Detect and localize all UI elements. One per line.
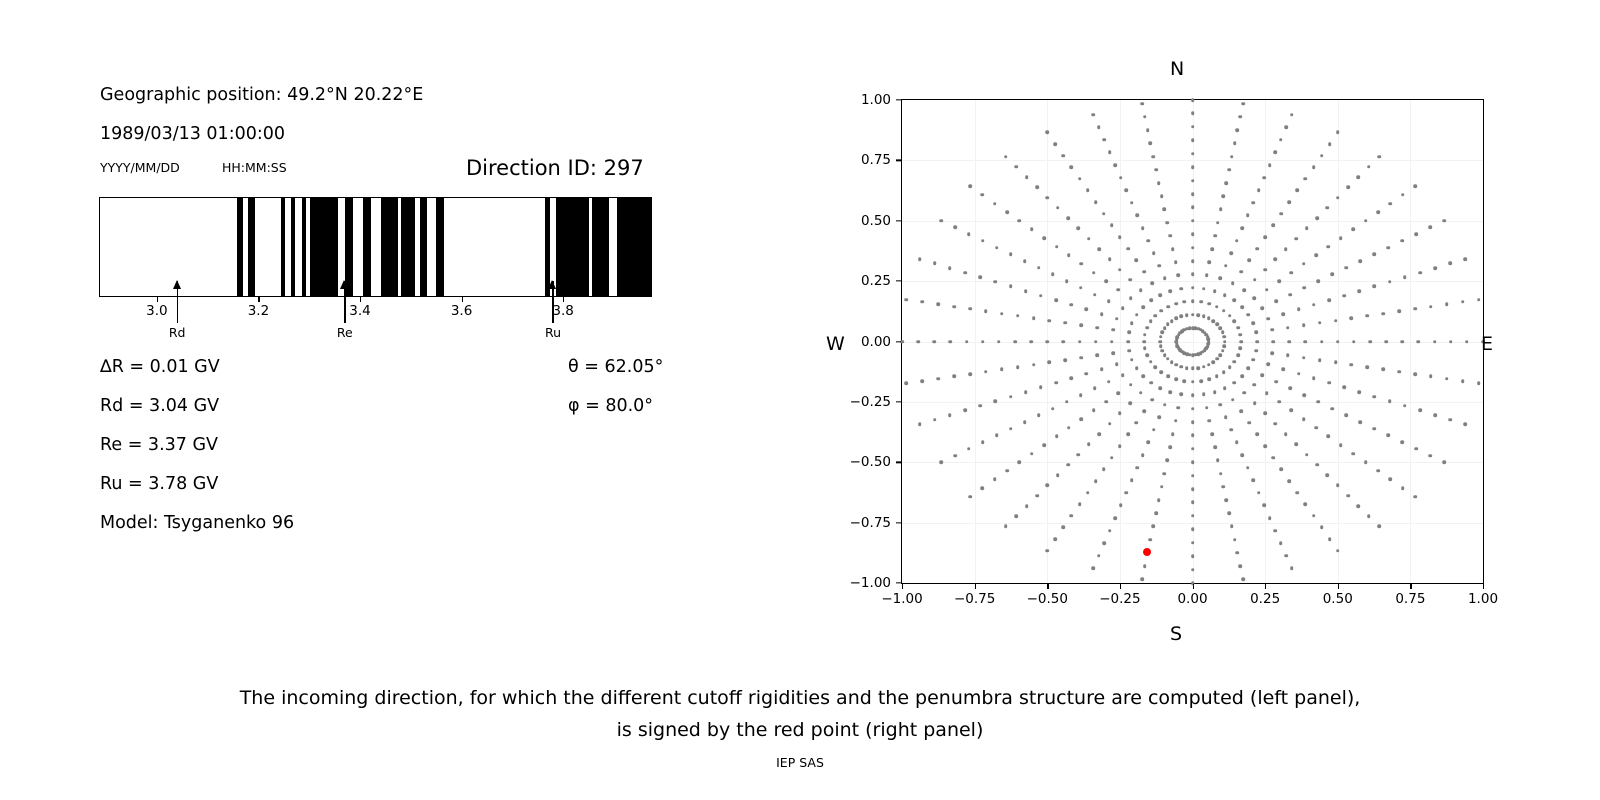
x-axis-tick xyxy=(1410,584,1411,589)
direction-dot xyxy=(1294,442,1298,446)
x-axis-tick-label: −0.25 xyxy=(1099,591,1140,607)
direction-dot xyxy=(1100,367,1104,371)
direction-dot xyxy=(1302,323,1306,327)
direction-dot xyxy=(1318,358,1322,362)
direction-dot xyxy=(1196,313,1200,317)
direction-dot xyxy=(1357,175,1361,179)
direction-dot xyxy=(1351,452,1355,456)
direction-dot xyxy=(1170,360,1174,364)
direction-dot xyxy=(1222,371,1226,375)
direction-dot xyxy=(1263,268,1267,272)
direction-dot xyxy=(1147,239,1151,243)
direction-dot xyxy=(1240,226,1244,230)
direction-dot xyxy=(1100,312,1104,316)
direction-dot xyxy=(1118,268,1122,272)
direction-dot xyxy=(1009,395,1013,399)
direction-dot xyxy=(1025,175,1029,179)
direction-dot xyxy=(1180,314,1184,318)
direction-dot xyxy=(1136,214,1140,218)
direction-dot xyxy=(936,377,940,381)
direction-dot xyxy=(1223,340,1227,344)
direction-dot xyxy=(1128,278,1132,282)
direction-dot xyxy=(1238,347,1242,351)
direction-dot xyxy=(1094,200,1098,204)
direction-dot xyxy=(1289,387,1293,391)
direction-dot xyxy=(967,447,971,451)
direction-dot xyxy=(1339,236,1343,240)
direction-dot xyxy=(1227,168,1231,172)
direction-dot xyxy=(1004,155,1008,159)
direction-dot xyxy=(1224,415,1228,419)
direction-dot xyxy=(1191,528,1195,532)
direction-dot xyxy=(1328,142,1332,146)
direction-dot xyxy=(1207,316,1211,320)
direction-dot xyxy=(1191,125,1195,129)
direction-dot xyxy=(1358,289,1362,293)
direction-dot xyxy=(1302,262,1306,266)
direction-dot xyxy=(1414,447,1418,451)
direction-dot xyxy=(1127,349,1131,353)
direction-dot xyxy=(1166,357,1170,361)
direction-dot xyxy=(1108,257,1112,261)
direction-dot xyxy=(1235,239,1239,243)
direction-dot xyxy=(1326,206,1330,210)
direction-dot xyxy=(1230,525,1234,529)
direction-dot xyxy=(1158,340,1162,344)
direction-dot xyxy=(1070,165,1074,169)
compass-north-label: N xyxy=(1170,58,1184,80)
direction-dot xyxy=(1246,466,1250,470)
direction-dot xyxy=(1030,228,1034,232)
direction-dot xyxy=(1115,363,1119,367)
direction-dot xyxy=(1339,443,1343,447)
direction-dot xyxy=(1372,427,1376,431)
direction-dot xyxy=(1296,491,1300,495)
direction-dot xyxy=(1141,453,1145,457)
direction-dot xyxy=(1224,181,1228,185)
direction-dot xyxy=(1032,363,1036,367)
x-axis-tick-label: 0.50 xyxy=(1323,591,1353,607)
direction-dot xyxy=(1251,358,1255,362)
direction-dot xyxy=(1294,237,1298,241)
direction-dot xyxy=(1263,412,1267,416)
direction-dot xyxy=(1414,232,1418,236)
direction-dot xyxy=(1140,578,1144,582)
direction-dot xyxy=(1092,409,1096,413)
direction-dot xyxy=(1367,165,1371,169)
x-axis-tick xyxy=(902,584,903,589)
direction-dot xyxy=(1366,314,1370,318)
y-axis-tick xyxy=(896,522,901,523)
direction-dot xyxy=(995,434,999,438)
direction-dot xyxy=(1102,138,1106,142)
direction-dot xyxy=(1238,115,1242,119)
x-axis-tick-label: −0.75 xyxy=(954,591,995,607)
direction-dot xyxy=(968,495,972,499)
direction-dot xyxy=(1191,112,1195,116)
direction-dot xyxy=(921,300,925,304)
direction-dot xyxy=(1078,340,1082,344)
direction-dot xyxy=(1265,391,1269,395)
direction-dot xyxy=(1130,358,1134,362)
y-axis-tick-label: −0.50 xyxy=(833,454,891,470)
direction-dot xyxy=(1330,407,1334,411)
direction-dot xyxy=(1296,189,1300,193)
direction-dot xyxy=(1465,340,1469,344)
direction-dot xyxy=(1304,502,1308,506)
direction-dot xyxy=(1267,317,1271,321)
direction-dot xyxy=(1372,253,1376,257)
direction-dot xyxy=(1048,319,1052,323)
direction-dot xyxy=(981,239,985,243)
direction-dot xyxy=(1284,432,1288,436)
direction-dot xyxy=(1055,245,1059,249)
direction-dot xyxy=(1207,363,1211,367)
direction-dot xyxy=(1146,128,1150,132)
direction-dot xyxy=(1107,299,1111,303)
figure-caption: The incoming direction, for which the di… xyxy=(0,682,1600,746)
direction-dot xyxy=(1262,504,1266,508)
direction-dot xyxy=(1004,525,1008,529)
direction-dot xyxy=(1191,152,1195,156)
direction-dot xyxy=(1163,326,1167,330)
direction-dot xyxy=(1121,306,1125,310)
direction-dot xyxy=(953,454,957,458)
direction-dot xyxy=(939,460,943,464)
direction-dot xyxy=(1433,340,1437,344)
direction-dot xyxy=(1175,316,1179,320)
direction-dot xyxy=(1191,165,1195,169)
direction-dot xyxy=(949,340,953,344)
direction-dot xyxy=(1104,400,1108,404)
direction-dot xyxy=(1289,293,1293,297)
direction-dot xyxy=(1216,221,1220,225)
x-axis-tick-label: −0.50 xyxy=(1027,591,1068,607)
direction-dot xyxy=(1045,196,1049,200)
direction-dot xyxy=(1213,289,1217,293)
direction-dot xyxy=(1219,472,1223,476)
direction-dot xyxy=(1191,367,1195,371)
y-axis-tick xyxy=(896,582,901,583)
direction-dot xyxy=(1185,366,1189,370)
direction-dot xyxy=(1035,494,1039,498)
y-axis-tick-label: −0.75 xyxy=(833,515,891,531)
direction-dot xyxy=(1224,498,1228,502)
direction-dot xyxy=(1273,529,1277,533)
direction-dot xyxy=(1054,381,1058,385)
direction-dot xyxy=(1344,413,1348,417)
direction-dot xyxy=(1124,491,1128,495)
direction-dot xyxy=(1464,422,1468,426)
direction-dot xyxy=(1121,373,1125,377)
direction-dot xyxy=(1232,381,1236,385)
direction-dot xyxy=(1130,321,1134,325)
direction-dot xyxy=(1166,322,1170,326)
direction-dot xyxy=(1168,234,1172,238)
direction-dot xyxy=(1149,538,1153,542)
direction-dot xyxy=(1067,253,1071,257)
direction-dot xyxy=(1023,420,1027,424)
direction-dot xyxy=(1240,374,1244,378)
direction-dot xyxy=(1358,259,1362,263)
direction-dot xyxy=(1130,201,1134,205)
direction-dot xyxy=(1312,376,1316,380)
direction-dot xyxy=(1448,418,1452,422)
direction-dot xyxy=(1302,356,1306,360)
footer-credit: IEP SAS xyxy=(0,755,1600,770)
direction-dot xyxy=(1243,288,1247,292)
direction-dot xyxy=(968,307,972,311)
direction-dot xyxy=(1477,382,1481,386)
direction-dot xyxy=(967,232,971,236)
direction-dot xyxy=(1403,275,1407,279)
direction-dot xyxy=(1023,259,1027,263)
y-axis-tick xyxy=(896,160,901,161)
direction-dot xyxy=(1171,432,1175,436)
direction-dot xyxy=(1110,224,1114,228)
direction-dot xyxy=(1177,274,1181,278)
direction-dot xyxy=(1229,251,1233,255)
direction-dot xyxy=(1108,151,1112,155)
direction-dot xyxy=(1326,473,1330,477)
direction-dot xyxy=(1274,422,1278,426)
direction-dot xyxy=(1095,354,1099,358)
direction-dot xyxy=(1376,210,1380,214)
direction-dot xyxy=(1191,232,1195,236)
direction-dot xyxy=(1320,340,1324,344)
x-axis-tick xyxy=(1338,584,1339,589)
direction-dot xyxy=(1104,279,1108,283)
direction-dot xyxy=(1079,262,1083,266)
direction-dot xyxy=(1342,294,1346,298)
direction-dot xyxy=(1318,321,1322,325)
direction-dot xyxy=(1263,444,1267,448)
direction-dot xyxy=(1157,498,1161,502)
direction-dot xyxy=(1327,245,1331,249)
direction-dot xyxy=(1113,163,1117,167)
direction-dot xyxy=(1079,417,1083,421)
direction-dot xyxy=(1191,219,1195,223)
direction-dot xyxy=(1213,390,1217,394)
direction-dot xyxy=(1304,177,1308,181)
direction-dot xyxy=(1297,308,1301,312)
direction-dot xyxy=(1056,206,1060,210)
direction-dot xyxy=(1159,335,1163,339)
direction-dot xyxy=(1350,316,1354,320)
selected-direction-point[interactable] xyxy=(1143,548,1151,556)
direction-dot xyxy=(1032,316,1036,320)
direction-dot xyxy=(1157,181,1161,185)
direction-dot xyxy=(1191,514,1195,518)
direction-dot xyxy=(1152,251,1156,255)
direction-dot xyxy=(1062,340,1066,344)
direction-dot xyxy=(1253,383,1257,387)
direction-dot xyxy=(1213,234,1217,238)
direction-dot xyxy=(1042,236,1046,240)
direction-dot xyxy=(1384,340,1388,344)
direction-dot xyxy=(1271,456,1275,460)
direction-dot xyxy=(1218,277,1222,281)
direction-dot xyxy=(1102,212,1106,216)
direction-dot xyxy=(1018,460,1022,464)
direction-dot xyxy=(1236,551,1240,555)
direction-dot xyxy=(1143,333,1147,337)
direction-dot xyxy=(1171,247,1175,251)
direction-dot xyxy=(1270,328,1274,332)
direction-dot xyxy=(1140,102,1144,106)
direction-dot xyxy=(1222,485,1226,489)
direction-dot xyxy=(1303,393,1307,397)
direction-dot xyxy=(1228,314,1232,318)
direction-dot xyxy=(1069,376,1073,380)
direction-dot xyxy=(1154,511,1158,515)
direction-dot xyxy=(1185,313,1189,317)
direction-dot xyxy=(1236,128,1240,132)
direction-dot xyxy=(1000,312,1004,316)
direction-dot xyxy=(1211,360,1215,364)
direction-dot xyxy=(993,478,997,482)
direction-dot xyxy=(1199,379,1203,383)
direction-dot xyxy=(1336,549,1340,553)
direction-dot xyxy=(1327,298,1331,302)
x-axis-tick xyxy=(1265,584,1266,589)
direction-dot xyxy=(1163,208,1167,212)
direction-dot xyxy=(1275,299,1279,303)
x-axis-tick-label: 0.75 xyxy=(1395,591,1425,607)
direction-dot xyxy=(1377,155,1381,159)
direction-dot xyxy=(1381,312,1385,316)
direction-dot xyxy=(1147,441,1151,445)
direction-dot xyxy=(1445,377,1449,381)
direction-dot xyxy=(1305,453,1309,457)
direction-dot xyxy=(1205,406,1209,410)
direction-dot xyxy=(1037,266,1041,270)
direction-dot xyxy=(1219,353,1223,357)
direction-dot xyxy=(1158,415,1162,419)
direction-dot xyxy=(1373,285,1377,289)
caption-line-1: The incoming direction, for which the di… xyxy=(0,682,1600,714)
direction-dot xyxy=(1160,349,1164,353)
direction-dot xyxy=(1221,331,1225,335)
direction-dot xyxy=(1087,442,1091,446)
direction-dot xyxy=(1095,326,1099,330)
direction-dot xyxy=(1255,247,1259,251)
direction-dot xyxy=(1290,271,1294,275)
direction-dot xyxy=(1191,206,1195,210)
direction-dot xyxy=(1151,525,1155,529)
x-axis-tick-label: 0.25 xyxy=(1250,591,1280,607)
direction-dot xyxy=(1030,452,1034,456)
direction-dot xyxy=(1127,330,1131,334)
direction-dot xyxy=(1051,273,1055,277)
direction-dot xyxy=(968,372,972,376)
direction-dot xyxy=(1065,400,1069,404)
direction-dot xyxy=(1351,228,1355,232)
direction-dot xyxy=(963,409,967,413)
direction-dot xyxy=(1282,312,1286,316)
direction-dot xyxy=(1279,138,1283,142)
direction-dot xyxy=(1191,380,1195,384)
direction-dot xyxy=(905,382,909,386)
direction-dot xyxy=(1014,165,1018,169)
direction-dot xyxy=(1191,434,1195,438)
direction-dot xyxy=(1168,445,1172,449)
direction-dot xyxy=(1231,398,1235,402)
direction-dot xyxy=(1233,360,1237,364)
direction-dot xyxy=(1364,460,1368,464)
direction-dot xyxy=(1315,216,1319,220)
y-axis-tick xyxy=(896,341,901,342)
direction-dot xyxy=(965,340,969,344)
direction-dot xyxy=(1079,286,1083,290)
direction-dot xyxy=(1413,495,1417,499)
direction-dot xyxy=(1160,194,1164,198)
direction-dot xyxy=(1417,340,1421,344)
direction-dot xyxy=(994,399,998,403)
direction-dot xyxy=(1327,381,1331,385)
x-axis-tick-label: 1.00 xyxy=(1468,591,1498,607)
direction-dot xyxy=(1191,393,1195,397)
direction-dot xyxy=(1149,360,1153,364)
direction-dot xyxy=(1290,409,1294,413)
direction-dot xyxy=(1169,390,1173,394)
direction-dot xyxy=(1344,266,1348,270)
direction-dot xyxy=(1174,419,1178,423)
direction-dot xyxy=(1208,419,1212,423)
direction-dot xyxy=(981,440,985,444)
compass-east-label: E xyxy=(1481,333,1493,355)
direction-dot xyxy=(1179,287,1183,291)
direction-dot xyxy=(1158,386,1162,390)
direction-dot xyxy=(1358,390,1362,394)
direction-dot xyxy=(1009,253,1013,257)
direction-dot xyxy=(1388,399,1392,403)
direction-dot xyxy=(1135,367,1139,371)
direction-dot xyxy=(1117,391,1121,395)
y-axis-tick-label: 0.75 xyxy=(833,152,891,168)
direction-dot xyxy=(1054,142,1058,146)
direction-dot xyxy=(1086,491,1090,495)
direction-dot xyxy=(1117,288,1121,292)
direction-dot xyxy=(1240,453,1244,457)
direction-dot xyxy=(1227,511,1231,515)
direction-dot xyxy=(1229,428,1233,432)
direction-dot xyxy=(1271,224,1275,228)
direction-dot xyxy=(1316,279,1320,283)
direction-dot xyxy=(1210,432,1214,436)
direction-dot xyxy=(1191,138,1195,142)
direction-dot xyxy=(1170,319,1174,323)
direction-map-plot xyxy=(901,99,1484,584)
direction-dot xyxy=(933,418,937,422)
direction-dot xyxy=(1418,271,1422,275)
direction-dot xyxy=(1029,340,1033,344)
direction-dot xyxy=(1191,313,1195,317)
direction-dot xyxy=(1191,568,1195,572)
direction-dot xyxy=(1253,401,1257,405)
direction-dot xyxy=(1159,344,1163,348)
direction-dot xyxy=(1045,549,1049,553)
direction-dot xyxy=(1279,541,1283,545)
y-axis-tick xyxy=(896,220,901,221)
direction-dot xyxy=(968,184,972,188)
direction-dot xyxy=(1191,554,1195,558)
y-axis-tick-label: 0.50 xyxy=(833,213,891,229)
direction-dot xyxy=(1350,363,1354,367)
direction-dot xyxy=(1013,340,1017,344)
x-axis-tick-label: 0.00 xyxy=(1177,591,1207,607)
direction-dot xyxy=(1238,333,1242,337)
